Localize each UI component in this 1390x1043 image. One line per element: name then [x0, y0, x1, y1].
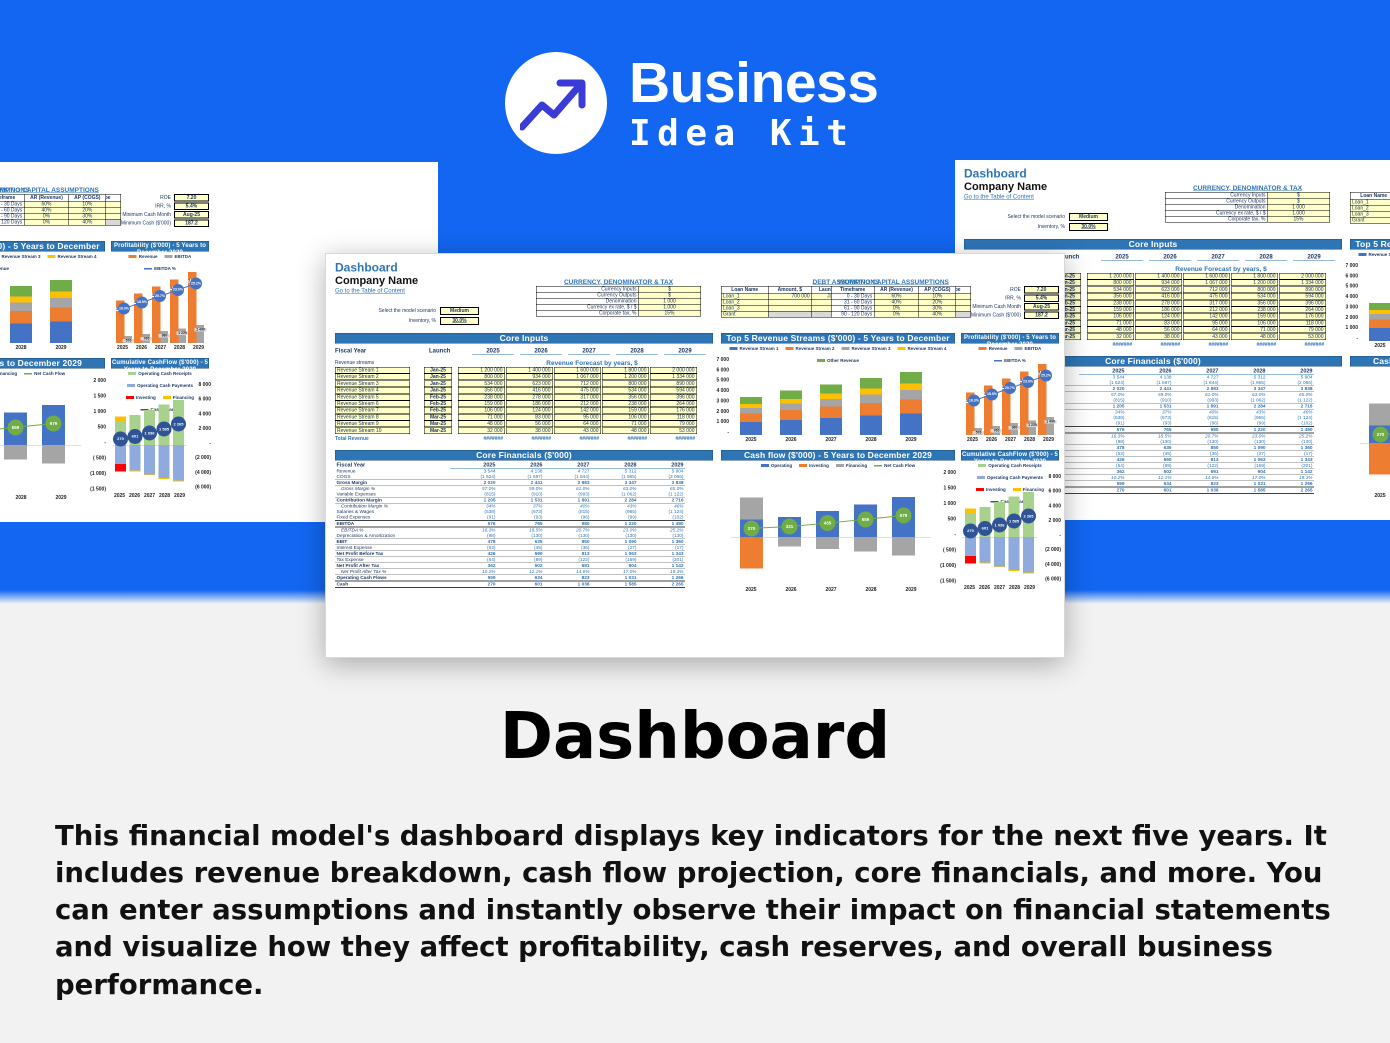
- top5-revenue-plot: [1360, 266, 1390, 341]
- wc-cell[interactable]: 61 - 90 Days: [0, 213, 24, 219]
- revenue-forecast-cell[interactable]: 1 200 000: [1231, 280, 1278, 287]
- revenue-forecast-cell[interactable]: 800 000: [602, 380, 649, 387]
- page-title: Dashboard: [0, 700, 1390, 774]
- total-revenue-value: #######: [458, 436, 505, 442]
- kpi-label: Minimum Cash ($'000): [961, 313, 1021, 319]
- core-financials-cell: 1 585: [591, 581, 638, 588]
- wc-header-row: TimeframeAR (Revenue)AP (COGS): [831, 286, 956, 293]
- top5-bar-group: [10, 286, 32, 343]
- revenue-forecast-cell[interactable]: 1 067 000: [1183, 280, 1230, 287]
- revenue-forecast-cell[interactable]: 186 000: [506, 401, 553, 408]
- company-name: Company Name: [964, 180, 1047, 193]
- legend-label: Net Cash Flow: [884, 463, 915, 468]
- cash-flow-plot: 270331435559679: [731, 474, 931, 584]
- cash-flow-ytick: 500: [83, 425, 106, 431]
- revenue-forecast-cell[interactable]: 118 000: [1279, 320, 1326, 327]
- currency-value[interactable]: 15%: [1267, 216, 1330, 222]
- revenue-forecast-cell[interactable]: 1 067 000: [554, 374, 601, 381]
- cumulative-ytick: 6 000: [188, 397, 211, 403]
- revenue-forecast-cell[interactable]: 212 000: [1183, 307, 1230, 314]
- revenue-forecast-cell[interactable]: 934 000: [1135, 280, 1182, 287]
- revenue-forecast-cell[interactable]: 48 000: [602, 427, 649, 434]
- page-description: This financial model's dashboard display…: [55, 818, 1345, 1004]
- cash-flow-ytick: 2 000: [83, 378, 106, 384]
- brand-tagline: Idea Kit: [629, 116, 878, 152]
- revenue-forecast-cell[interactable]: 118 000: [650, 414, 697, 421]
- top5-ytick: 3 000: [712, 398, 729, 404]
- top5-ytick: 1 000: [712, 419, 729, 425]
- revenue-stream-launch[interactable]: Feb-25: [424, 401, 452, 408]
- top5-bar-segment: [780, 410, 802, 420]
- revenue-forecast-cell[interactable]: 159 000: [602, 407, 649, 414]
- wc-block-title: WORKING CAPITAL ASSUMPTIONS: [831, 278, 956, 286]
- revenue-forecast-cell[interactable]: 1 334 000: [1279, 280, 1326, 287]
- cash-flow-plot: 270331435559679: [1360, 380, 1390, 490]
- top5-xtick: 2029: [905, 437, 916, 443]
- total-revenue-value: #######: [1135, 342, 1182, 348]
- cumulative-ytick: (4 000): [1038, 562, 1061, 568]
- screenshot-main: DashboardCompany NameGo to the Table of …: [325, 253, 1065, 658]
- cash-flow-header: Cash flow ($'000) - 5 Years to December …: [1350, 356, 1390, 367]
- core-financials-cell: 2 265: [1267, 487, 1314, 494]
- revenue-forecast-cell[interactable]: 71 000: [602, 421, 649, 428]
- cash-flow-xtick: 2029: [905, 587, 916, 593]
- revenue-forecast-cell[interactable]: 159 000: [1087, 307, 1134, 314]
- kpi-label: Minimum Cash Month: [111, 212, 171, 218]
- revenue-stream-launch[interactable]: Mar-25: [424, 421, 452, 428]
- core-inputs-year: 2026: [520, 347, 562, 355]
- revenue-stream-launch[interactable]: Mar-25: [424, 414, 452, 421]
- revenue-forecast-cell[interactable]: 79 000: [650, 421, 697, 428]
- revenue-forecast-cell[interactable]: 1 400 000: [1135, 273, 1182, 280]
- legend-item: Net Cash Flow: [24, 371, 65, 376]
- revenue-forecast-cell[interactable]: 238 000: [602, 401, 649, 408]
- revenue-forecast-cell[interactable]: 534 000: [1087, 286, 1134, 293]
- cash-flow-xtick: 2029: [55, 495, 66, 501]
- revenue-forecast-cell[interactable]: 176 000: [650, 407, 697, 414]
- cash-flow-ytick: 2 000: [933, 470, 956, 476]
- revenue-stream-name[interactable]: Revenue Stream 5: [335, 394, 410, 401]
- kpi-label: ROE: [111, 195, 171, 201]
- top5-bar-group: [740, 397, 762, 435]
- legend-item: Revenue Stream 3: [0, 254, 41, 259]
- top5-bar-segment: [50, 307, 72, 321]
- core-financials-cell: 1 585: [1220, 487, 1267, 494]
- revenue-forecast-cell[interactable]: 212 000: [554, 401, 601, 408]
- core-inputs-year: 2027: [1197, 253, 1239, 261]
- wc-row: 90 - 120 Days0%40%: [0, 219, 106, 225]
- legend-item: Revenue: [129, 254, 158, 259]
- profitability-xaxis: 20252026202720282029: [963, 437, 1058, 443]
- revenue-forecast-cell[interactable]: 38 000: [506, 427, 553, 434]
- cumulative-xtick: 2029: [1024, 585, 1035, 591]
- kpi-value: 187.2: [174, 220, 209, 228]
- revenue-forecast-cell[interactable]: 594 000: [650, 387, 697, 394]
- revenue-forecast-cell[interactable]: 1 334 000: [650, 374, 697, 381]
- revenue-forecast-cell[interactable]: 159 000: [458, 401, 505, 408]
- revenue-forecast-cell[interactable]: 142 000: [1183, 313, 1230, 320]
- revenue-forecast-cell[interactable]: 800 000: [1231, 286, 1278, 293]
- legend-item: Revenue Stream 4: [898, 346, 947, 351]
- top5-yaxis: 7 0006 0005 0004 0003 0002 0001 000-: [1341, 263, 1358, 341]
- revenue-forecast-cell[interactable]: 83 000: [506, 414, 553, 421]
- table-of-content-link[interactable]: Go to the Table of Content: [335, 287, 405, 294]
- top5-bar-segment: [780, 391, 802, 399]
- revenue-forecast-cell[interactable]: 712 000: [554, 380, 601, 387]
- cumulative-balance-marker: 601: [128, 429, 143, 444]
- cumulative-xaxis: 20252026202720282029: [112, 493, 187, 499]
- revenue-forecast-cell[interactable]: 534 000: [602, 387, 649, 394]
- revenue-forecast-cell[interactable]: 1 800 000: [1231, 273, 1278, 280]
- cash-flow-plot: 270331435559679: [0, 382, 81, 492]
- revenue-stream-name[interactable]: Revenue Stream 6: [335, 401, 410, 408]
- revenue-forecast-cell[interactable]: 32 000: [458, 427, 505, 434]
- top5-bar-segment: [740, 414, 762, 423]
- cash-flow-ytick: 1 500: [83, 394, 106, 400]
- revenue-forecast-cell[interactable]: 238 000: [1087, 300, 1134, 307]
- working-capital-table: TimeframeAR (Revenue)AP (COGS)0 - 30 Day…: [0, 194, 106, 226]
- revenue-forecast-cell[interactable]: 64 000: [554, 421, 601, 428]
- top5-ytick: 2 000: [712, 409, 729, 415]
- revenue-forecast-cell[interactable]: 2 000 000: [650, 367, 697, 374]
- revenue-forecast-cell[interactable]: 1 200 000: [602, 374, 649, 381]
- legend-label: Revenue Stream 3: [852, 346, 891, 351]
- revenue-forecast-cell[interactable]: 53 000: [1279, 333, 1326, 340]
- revenue-forecast-cell[interactable]: 800 000: [458, 374, 505, 381]
- revenue-forecast-cell[interactable]: 95 000: [554, 414, 601, 421]
- cumulative-yaxis: 8 0006 0004 0002 000-(2 000)(4 000)(6 00…: [1038, 474, 1061, 582]
- revenue-forecast-cell[interactable]: 800 000: [1087, 280, 1134, 287]
- revenue-forecast-cell[interactable]: 64 000: [1183, 327, 1230, 334]
- revenue-forecast-cell[interactable]: 594 000: [1279, 293, 1326, 300]
- core-inputs-year: 2028: [1245, 253, 1287, 261]
- legend-label: Operating: [771, 463, 792, 468]
- revenue-stream-name[interactable]: Revenue Stream 2: [335, 374, 410, 381]
- currency-row: Corporate tax, %15%: [1165, 216, 1330, 222]
- revenue-forecast-cell[interactable]: 934 000: [506, 374, 553, 381]
- revenue-forecast-cell[interactable]: 124 000: [1135, 313, 1182, 320]
- top5-ytick: 7 000: [1341, 263, 1358, 269]
- revenue-forecast-cell[interactable]: 142 000: [554, 407, 601, 414]
- total-revenue-value: #######: [1087, 342, 1134, 348]
- top5-ytick: -: [1341, 335, 1358, 341]
- revenue-forecast-cell[interactable]: 32 000: [1087, 333, 1134, 340]
- revenue-streams-label: Revenue streams: [335, 360, 374, 366]
- kpi-value: Aug-25: [174, 211, 209, 219]
- cash-flow-ytick: 500: [933, 517, 956, 523]
- revenue-forecast-cell[interactable]: 356 000: [602, 394, 649, 401]
- revenue-forecast-cell[interactable]: 43 000: [554, 427, 601, 434]
- revenue-forecast-cell[interactable]: 475 000: [1183, 293, 1230, 300]
- revenue-forecast-cell[interactable]: 890 000: [650, 380, 697, 387]
- cash-flow-ytick: -: [933, 532, 956, 538]
- currency-label: Corporate tax, %: [1165, 216, 1267, 222]
- revenue-forecast-cell[interactable]: 356 000: [1231, 300, 1278, 307]
- legend-item: Operating Cash Receipts: [978, 463, 1042, 468]
- cumulative-ytick: 6 000: [1038, 489, 1061, 495]
- revenue-stream-launch[interactable]: Jan-25: [424, 374, 452, 381]
- total-revenue-label: Total Revenue: [335, 436, 369, 442]
- profitability-pct-marker: 16.3%: [968, 395, 980, 407]
- revenue-forecast-cell[interactable]: 278 000: [1135, 300, 1182, 307]
- core-inputs-year: 2029: [1293, 253, 1335, 261]
- revenue-stream-launch[interactable]: Jan-25: [424, 367, 452, 374]
- profitability-xtick: 2026: [986, 437, 997, 443]
- wc-header-cell: AR (Revenue): [24, 194, 69, 201]
- revenue-stream-launch[interactable]: Mar-25: [424, 427, 452, 434]
- revenue-forecast-cell[interactable]: 48 000: [1087, 327, 1134, 334]
- revenue-forecast-cell[interactable]: 176 000: [1279, 313, 1326, 320]
- revenue-forecast-cell[interactable]: 1 200 000: [458, 367, 505, 374]
- revenue-stream-launch[interactable]: Jan-25: [424, 380, 452, 387]
- legend-label: Revenue Stream 1: [739, 346, 778, 351]
- profitability-pct-marker: 18.5%: [136, 296, 148, 308]
- revenue-forecast-cell[interactable]: 356 000: [458, 387, 505, 394]
- inventory-input[interactable]: 30.0%: [440, 317, 479, 325]
- profitability-pct-marker: 18.5%: [986, 388, 998, 400]
- profitability-xtick: 2025: [967, 437, 978, 443]
- wc-block-title: WORKING CAPITAL ASSUMPTIONS: [0, 186, 106, 194]
- top5-bar-segment: [820, 399, 842, 407]
- profitability-header: Profitability ($'000) - 5 Years to Decem…: [111, 241, 209, 252]
- legend-label: Revenue Stream 4: [908, 346, 947, 351]
- revenue-forecast-cell[interactable]: 623 000: [1135, 286, 1182, 293]
- revenue-stream-name[interactable]: Revenue Stream 4: [335, 387, 410, 394]
- revenue-forecast-cell[interactable]: 124 000: [506, 407, 553, 414]
- legend-item: EBITDA: [165, 254, 192, 259]
- revenue-forecast-cell[interactable]: 71 000: [458, 414, 505, 421]
- revenue-forecast-cell[interactable]: 56 000: [506, 421, 553, 428]
- legend-label: Operating Cash Receipts: [988, 463, 1042, 468]
- revenue-stream-name[interactable]: Revenue Stream 9: [335, 421, 410, 428]
- revenue-forecast-cell[interactable]: 396 000: [1279, 300, 1326, 307]
- revenue-forecast-cell[interactable]: 264 000: [1279, 307, 1326, 314]
- scenario-select[interactable]: Medium: [1069, 213, 1108, 221]
- cumulative-ytick: -: [1038, 533, 1061, 539]
- cumulative-balance-marker: 601: [978, 521, 993, 536]
- legend-swatch: [729, 347, 737, 350]
- cash-flow-net-marker: 559: [858, 511, 874, 527]
- revenue-forecast-cell[interactable]: 416 000: [1135, 293, 1182, 300]
- wc-cell[interactable]: 40%: [919, 311, 956, 317]
- wc-cell[interactable]: 0%: [24, 219, 69, 225]
- kpi-value: 5.4%: [174, 203, 209, 211]
- brand-logo: Business Idea Kit: [505, 52, 878, 154]
- revenue-stream-name[interactable]: Revenue Stream 8: [335, 414, 410, 421]
- revenue-forecast-cell[interactable]: 71 000: [1231, 327, 1278, 334]
- cumulative-cashflow-header: Cumulative CashFlow ($'000) - 5 Years to…: [111, 358, 209, 369]
- cash-flow-ytick: (1 500): [83, 487, 106, 493]
- top5-bar-group: [1369, 303, 1390, 341]
- revenue-forecast-cell[interactable]: 56 000: [1135, 327, 1182, 334]
- revenue-forecast-cell[interactable]: 106 000: [1087, 313, 1134, 320]
- revenue-forecast-cell[interactable]: 106 000: [602, 414, 649, 421]
- profitability-pct-marker: 16.3%: [118, 303, 130, 315]
- profitability-xtick: 2029: [1043, 437, 1054, 443]
- revenue-forecast-cell[interactable]: 264 000: [650, 401, 697, 408]
- wc-cell[interactable]: 0%: [874, 311, 919, 317]
- legend-swatch: [48, 255, 56, 258]
- revenue-forecast-cell[interactable]: 2 000 000: [1279, 273, 1326, 280]
- currency-value[interactable]: 15%: [638, 310, 701, 316]
- cumulative-balance-marker: 270: [113, 431, 128, 446]
- revenue-forecast-cell[interactable]: 238 000: [1231, 307, 1278, 314]
- debt-cell[interactable]: Grant: [1350, 217, 1390, 223]
- top5-bar-segment: [820, 418, 842, 435]
- top5-bar-segment: [740, 397, 762, 404]
- revenue-forecast-cell[interactable]: 623 000: [506, 380, 553, 387]
- cash-flow-ytick: 1 500: [933, 486, 956, 492]
- legend-swatch: [836, 464, 844, 467]
- revenue-forecast-cell[interactable]: 475 000: [554, 387, 601, 394]
- revenue-forecast-cell[interactable]: 238 000: [458, 394, 505, 401]
- top5-bar-segment: [820, 384, 842, 393]
- wc-cell[interactable]: 40%: [69, 219, 106, 225]
- revenue-forecast-cell[interactable]: 1 400 000: [506, 367, 553, 374]
- revenue-forecast-cell[interactable]: 317 000: [554, 394, 601, 401]
- debt-cell[interactable]: [768, 311, 811, 317]
- legend-swatch: [785, 347, 793, 350]
- revenue-forecast-cell[interactable]: 1 600 000: [554, 367, 601, 374]
- revenue-forecast-cell[interactable]: 38 000: [1135, 333, 1182, 340]
- revenue-forecast-cell[interactable]: 534 000: [1231, 293, 1278, 300]
- top5-xtick: 2027: [825, 437, 836, 443]
- profitability-xaxis: 20252026202720282029: [113, 345, 208, 351]
- currency-block-title: CURRENCY, DENOMINATOR & TAX: [1165, 184, 1330, 192]
- wc-cell[interactable]: 0 - 30 Days: [0, 201, 24, 207]
- revenue-forecast-cell[interactable]: 48 000: [458, 421, 505, 428]
- top5-xtick: 2028: [865, 437, 876, 443]
- cash-flow-xtick: 2027: [825, 587, 836, 593]
- revenue-stream-name[interactable]: Revenue Stream 1: [335, 367, 410, 374]
- revenue-stream-name[interactable]: Revenue Stream 7: [335, 407, 410, 414]
- top5-xtick: 2028: [15, 345, 26, 351]
- wc-header-cell: AR (Revenue): [874, 286, 919, 293]
- top5-ytick: 5 000: [712, 378, 729, 384]
- revenue-forecast-cell[interactable]: 186 000: [1135, 307, 1182, 314]
- cumulative-ytick: 2 000: [1038, 518, 1061, 524]
- cumulative-yaxis: 8 0006 0004 0002 000-(2 000)(4 000)(6 00…: [188, 382, 211, 490]
- legend-item: Financing: [836, 463, 867, 468]
- revenue-forecast-cell[interactable]: 396 000: [650, 394, 697, 401]
- top5-bar-segment: [860, 378, 882, 388]
- launch-label: Launch: [429, 347, 450, 354]
- cumulative-xaxis: 20252026202720282029: [962, 585, 1037, 591]
- legend-swatch: [128, 372, 136, 375]
- revenue-forecast-cell[interactable]: 1 600 000: [1183, 273, 1230, 280]
- table-of-content-link[interactable]: Go to the Table of Content: [964, 193, 1034, 200]
- revenue-stream-launch[interactable]: Feb-25: [424, 394, 452, 401]
- revenue-forecast-cell[interactable]: 95 000: [1183, 320, 1230, 327]
- top5-bars: [731, 360, 931, 435]
- debt-cell[interactable]: Grant: [721, 311, 768, 317]
- cash-flow-xaxis: 20252026202720282029: [731, 587, 931, 593]
- cumulative-xtick: 2027: [144, 493, 155, 499]
- revenue-stream-name[interactable]: Revenue Stream 3: [335, 380, 410, 387]
- top5-xtick: 2029: [55, 345, 66, 351]
- top5-revenue-header: Top 5 Revenue Streams ($'000) - 5 Years …: [1350, 239, 1390, 250]
- revenue-forecast-cell[interactable]: 71 000: [1087, 320, 1134, 327]
- cash-flow-xtick: 2025: [745, 587, 756, 593]
- revenue-forecast-cell[interactable]: 416 000: [506, 387, 553, 394]
- sheet-title: Dashboard: [964, 167, 1027, 181]
- revenue-forecast-cell[interactable]: 534 000: [458, 380, 505, 387]
- revenue-forecast-cell[interactable]: 83 000: [1135, 320, 1182, 327]
- revenue-forecast-cell[interactable]: 712 000: [1183, 286, 1230, 293]
- top5-ytick: 4 000: [1341, 294, 1358, 300]
- cumulative-balance-marker: 270: [963, 523, 978, 538]
- cumulative-xtick: 2026: [979, 585, 990, 591]
- top5-bar-segment: [1369, 328, 1390, 341]
- core-financials-cell: 270: [450, 581, 497, 588]
- core-inputs-header: Core Inputs: [335, 333, 713, 344]
- revenue-forecast-cell[interactable]: 48 000: [1231, 333, 1278, 340]
- sheet-title: Dashboard: [335, 261, 398, 275]
- cash-flow-header: Cash flow ($'000) - 5 Years to December …: [721, 450, 955, 461]
- core-financials-row: Cash2706011 0361 5852 265: [335, 581, 685, 588]
- revenue-forecast-cell[interactable]: 79 000: [1279, 327, 1326, 334]
- wc-cell[interactable]: 31 - 60 Days: [0, 207, 24, 213]
- wc-header-row: TimeframeAR (Revenue)AP (COGS): [0, 194, 106, 201]
- total-revenue-value: #######: [650, 436, 697, 442]
- revenue-forecast-cell[interactable]: 1 800 000: [602, 367, 649, 374]
- wc-cell[interactable]: 90 - 120 Days: [0, 219, 24, 225]
- debt-row: Grant: [1350, 217, 1390, 223]
- cash-flow-net-marker: 679: [46, 416, 62, 432]
- top5-bar-segment: [740, 422, 762, 435]
- revenue-stream-launch[interactable]: Jan-25: [424, 387, 452, 394]
- revenue-forecast-cell[interactable]: 317 000: [1183, 300, 1230, 307]
- revenue-stream-name[interactable]: Revenue Stream 10: [335, 427, 410, 434]
- legend-label: Revenue Stream 1: [1368, 252, 1390, 257]
- revenue-forecast-cell[interactable]: 43 000: [1183, 333, 1230, 340]
- top5-ytick: 3 000: [1341, 304, 1358, 310]
- profitability-xtick: 2029: [193, 345, 204, 351]
- cumulative-cashflow-plot: 2706011 0361 5852 265: [962, 477, 1037, 582]
- profitability-pct-marker: 23.0%: [1022, 376, 1034, 388]
- inventory-input[interactable]: 30.0%: [1069, 223, 1108, 231]
- debt-block-title: DEBT ASSUMPTIONS: [1350, 184, 1390, 192]
- revenue-forecast-cell[interactable]: 159 000: [1231, 313, 1278, 320]
- core-financials-table-wrap: Fiscal Year20252026202720282029Revenue3 …: [335, 462, 685, 588]
- cumulative-balance-marker: 2 265: [171, 417, 186, 432]
- cash-flow-ytick: 1 000: [83, 409, 106, 415]
- revenue-forecast-cell[interactable]: 1 200 000: [1087, 273, 1134, 280]
- revenue-forecast-cell[interactable]: 106 000: [1231, 320, 1278, 327]
- revenue-forecast-cell[interactable]: 53 000: [650, 427, 697, 434]
- core-financials-cell: 601: [497, 581, 544, 588]
- revenue-forecast-cell[interactable]: 356 000: [1087, 293, 1134, 300]
- core-inputs-year: 2028: [616, 347, 658, 355]
- kpi-label: ROE: [961, 287, 1021, 293]
- inventory-label: Inventory, %: [356, 318, 436, 324]
- legend-label: Revenue: [139, 254, 158, 259]
- kpi-label: IRR, %: [961, 296, 1021, 302]
- revenue-forecast-cell[interactable]: 106 000: [458, 407, 505, 414]
- revenue-forecast-title: Revenue Forecast by years, $: [472, 359, 712, 367]
- wc-cell[interactable]: 90 - 120 Days: [831, 311, 874, 317]
- revenue-stream-launch[interactable]: Feb-25: [424, 407, 452, 414]
- legend-item: Revenue Stream 3: [842, 346, 891, 351]
- top5-bars: [0, 268, 81, 343]
- top5-bar-segment: [1369, 320, 1390, 329]
- revenue-forecast-cell[interactable]: 890 000: [1279, 286, 1326, 293]
- core-inputs-year: 2026: [1149, 253, 1191, 261]
- scenario-select[interactable]: Medium: [440, 307, 479, 315]
- top5-ytick: 6 000: [712, 367, 729, 373]
- revenue-forecast-cell[interactable]: 278 000: [506, 394, 553, 401]
- currency-label: Corporate tax, %: [536, 310, 638, 316]
